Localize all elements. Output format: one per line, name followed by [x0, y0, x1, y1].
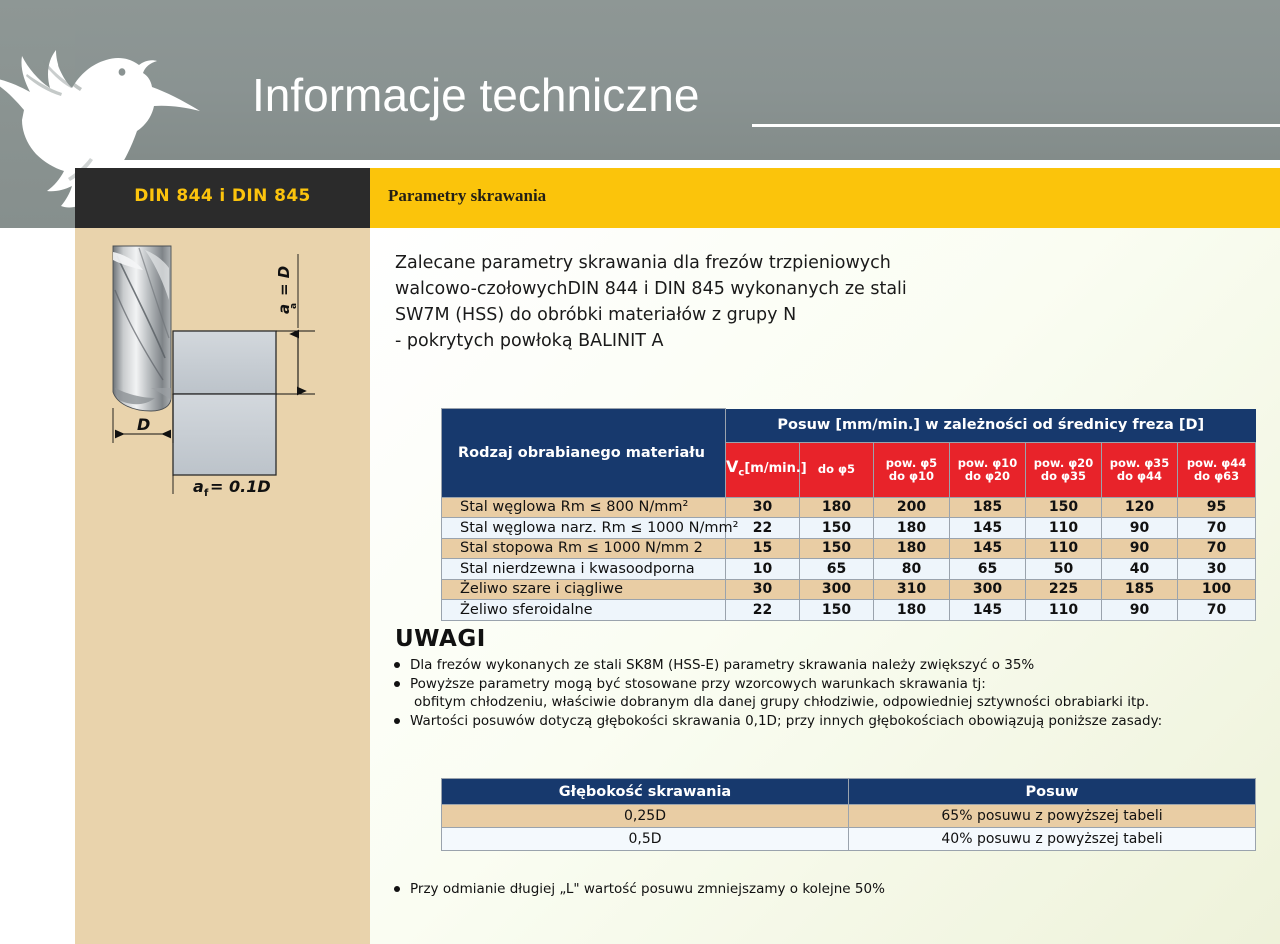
- end-mill-diagram: a a = D D a f = 0.1D: [93, 238, 353, 500]
- cell-value: 150: [800, 538, 874, 559]
- header-col-phi5-phi10: pow. φ5 do φ10: [874, 442, 950, 497]
- cell-value: 100: [1178, 579, 1256, 600]
- cell-value: 300: [800, 579, 874, 600]
- cell-value: 300: [950, 579, 1026, 600]
- cell-value: 65: [950, 559, 1026, 580]
- diagram-label-radial: a: [193, 477, 204, 496]
- table-row: Stal węglowa narz. Rm ≤ 1000 N/mm² 22 15…: [442, 518, 1256, 539]
- cell-material: Stal stopowa Rm ≤ 1000 N/mm 2: [442, 538, 726, 559]
- left-illustration-panel: a a = D D a f = 0.1D: [75, 228, 370, 944]
- depth-header: Głębokość skrawania: [442, 779, 849, 805]
- note-subtext: obfitym chłodzeniu, właściwie dobranym d…: [410, 693, 1272, 711]
- table-row: Stal węglowa Rm ≤ 800 N/mm² 30 180 200 1…: [442, 497, 1256, 518]
- header-col-phi20-phi35: pow. φ20 do φ35: [1026, 442, 1102, 497]
- intro-line-4: - pokrytych powłoką BALINIT A: [395, 328, 1015, 354]
- cell-value: 150: [1026, 497, 1102, 518]
- intro-paragraph: Zalecane parametry skrawania dla frezów …: [395, 250, 1015, 354]
- header-col-phi20-phi35-l2: do φ35: [1041, 469, 1086, 483]
- note-item: Dla frezów wykonanych ze stali SK8M (HSS…: [382, 656, 1272, 674]
- notes-final: Przy odmianie długiej „L" wartość posuwu…: [382, 880, 1272, 899]
- notes-heading: UWAGI: [395, 626, 486, 652]
- header-col-phi35-phi44-l1: pow. φ35: [1110, 456, 1169, 470]
- cell-value: 95: [1178, 497, 1256, 518]
- cutting-parameters-table-wrapper: Rodzaj obrabianego materiału Posuw [mm/m…: [441, 408, 1255, 621]
- header-col-phi10-phi20-l1: pow. φ10: [958, 456, 1017, 470]
- cell-value: 15: [726, 538, 800, 559]
- cell-value: 70: [1178, 538, 1256, 559]
- cell-value: 80: [874, 559, 950, 580]
- note-item: Przy odmianie długiej „L" wartość posuwu…: [382, 880, 1272, 898]
- cell-value: 150: [800, 518, 874, 539]
- header-material-cell: Rodzaj obrabianego materiału: [442, 409, 726, 498]
- cell-value: 10: [726, 559, 800, 580]
- cell-value: 145: [950, 600, 1026, 621]
- cell-value: 90: [1102, 538, 1178, 559]
- depth-feed-table: Głębokość skrawania Posuw 0,25D 65% posu…: [441, 778, 1256, 851]
- note-item: Wartości posuwów dotyczą głębokości skra…: [382, 712, 1272, 730]
- cutting-parameters-table: Rodzaj obrabianego materiału Posuw [mm/m…: [441, 408, 1256, 621]
- header-material-label: Rodzaj obrabianego materiału: [442, 445, 725, 461]
- cell-material: Żeliwo szare i ciągliwe: [442, 579, 726, 600]
- cutting-parameters-table-body: Stal węglowa Rm ≤ 800 N/mm² 30 180 200 1…: [442, 497, 1256, 620]
- table-row: Żeliwo szare i ciągliwe 30 300 310 300 2…: [442, 579, 1256, 600]
- header-col-phi44-phi63-l1: pow. φ44: [1187, 456, 1246, 470]
- header-col-phi35-phi44-l2: do φ44: [1117, 469, 1162, 483]
- tab-standard-label: DIN 844 i DIN 845: [75, 186, 370, 206]
- cell-value: 180: [874, 538, 950, 559]
- main-content: Zalecane parametry skrawania dla frezów …: [370, 228, 1280, 944]
- depth-feed-header-row: Głębokość skrawania Posuw: [442, 779, 1256, 805]
- header-col-do-phi5: do φ5: [800, 442, 874, 497]
- cell-value: 110: [1026, 600, 1102, 621]
- cell-value: 65: [800, 559, 874, 580]
- cell-value: 110: [1026, 518, 1102, 539]
- cell-value: 180: [874, 518, 950, 539]
- page-title: Informacje techniczne: [252, 72, 699, 118]
- header-col-phi44-phi63-l2: do φ63: [1194, 469, 1239, 483]
- cell-material: Stal nierdzewna i kwasoodporna: [442, 559, 726, 580]
- cell-value: 310: [874, 579, 950, 600]
- header-col-phi10-phi20: pow. φ10 do φ20: [950, 442, 1026, 497]
- cell-value: 22: [726, 600, 800, 621]
- cell-value: 200: [874, 497, 950, 518]
- cell-value: 185: [950, 497, 1026, 518]
- cell-value: 90: [1102, 600, 1178, 621]
- tab-standard[interactable]: DIN 844 i DIN 845: [75, 168, 370, 228]
- cell-material: Stal węglowa Rm ≤ 800 N/mm²: [442, 497, 726, 518]
- cell-material: Stal węglowa narz. Rm ≤ 1000 N/mm²: [442, 518, 726, 539]
- cell-depth: 0,25D: [442, 805, 849, 828]
- bullet-icon: [394, 662, 400, 668]
- cell-value: 70: [1178, 600, 1256, 621]
- bullet-icon: [394, 681, 400, 687]
- bullet-icon: [394, 886, 400, 892]
- svg-text:= 0.1D: = 0.1D: [210, 477, 271, 496]
- notes-list: Dla frezów wykonanych ze stali SK8M (HSS…: [382, 656, 1272, 731]
- cell-value: 180: [874, 600, 950, 621]
- tab-section[interactable]: Parametry skrawania: [370, 168, 1280, 228]
- table-row: 0,25D 65% posuwu z powyższej tabeli: [442, 805, 1256, 828]
- table-row: Żeliwo sferoidalne 22 150 180 145 110 90…: [442, 600, 1256, 621]
- cell-depth: 0,5D: [442, 828, 849, 851]
- header-col-phi44-phi63: pow. φ44 do φ63: [1178, 442, 1256, 497]
- header-col-phi10-phi20-l2: do φ20: [965, 469, 1010, 483]
- cell-value: 70: [1178, 518, 1256, 539]
- cell-value: 225: [1026, 579, 1102, 600]
- intro-line-3: SW7M (HSS) do obróbki materiałów z grupy…: [395, 302, 1015, 328]
- table-row: 0,5D 40% posuwu z powyższej tabeli: [442, 828, 1256, 851]
- cell-feed: 65% posuwu z powyższej tabeli: [849, 805, 1256, 828]
- cell-value: 120: [1102, 497, 1178, 518]
- page-root: Informacje techniczne DIN 844 i DIN 845 …: [0, 0, 1280, 944]
- diagram-label-diameter: D: [137, 415, 150, 434]
- note-text: Wartości posuwów dotyczą głębokości skra…: [410, 713, 1162, 729]
- cell-feed: 40% posuwu z powyższej tabeli: [849, 828, 1256, 851]
- cell-value: 110: [1026, 538, 1102, 559]
- cell-value: 40: [1102, 559, 1178, 580]
- header-col-phi5-phi10-l2: do φ10: [889, 469, 934, 483]
- table-row: Stal nierdzewna i kwasoodporna 10 65 80 …: [442, 559, 1256, 580]
- section-tab-bar: DIN 844 i DIN 845 Parametry skrawania: [0, 168, 1280, 228]
- cell-value: 50: [1026, 559, 1102, 580]
- note-text: Przy odmianie długiej „L" wartość posuwu…: [410, 881, 885, 897]
- svg-text:a: a: [289, 303, 299, 309]
- cell-value: 30: [1178, 559, 1256, 580]
- cell-value: 185: [1102, 579, 1178, 600]
- cell-value: 145: [950, 518, 1026, 539]
- cell-value: 180: [800, 497, 874, 518]
- cell-value: 30: [726, 497, 800, 518]
- note-item: Powyższe parametry mogą być stosowane pr…: [382, 675, 1272, 711]
- tab-section-label: Parametry skrawania: [388, 186, 546, 206]
- header-col-do-phi5-l1: do φ5: [818, 462, 855, 476]
- cell-material: Żeliwo sferoidalne: [442, 600, 726, 621]
- cell-value: 90: [1102, 518, 1178, 539]
- intro-line-2: walcowo-czołowychDIN 844 i DIN 845 wykon…: [395, 276, 1015, 302]
- svg-text:= D: = D: [275, 266, 293, 296]
- header-col-phi5-phi10-l1: pow. φ5: [886, 456, 937, 470]
- table-row: Stal stopowa Rm ≤ 1000 N/mm 2 15 150 180…: [442, 538, 1256, 559]
- cell-value: 145: [950, 538, 1026, 559]
- cell-value: 30: [726, 579, 800, 600]
- svg-text:f: f: [204, 488, 209, 499]
- cell-value: 150: [800, 600, 874, 621]
- note-text: Powyższe parametry mogą być stosowane pr…: [410, 676, 986, 692]
- table-header-row-span: Rodzaj obrabianego materiału Posuw [mm/m…: [442, 409, 1256, 443]
- feed-header: Posuw: [849, 779, 1256, 805]
- header-col-phi35-phi44: pow. φ35 do φ44: [1102, 442, 1178, 497]
- bullet-icon: [394, 718, 400, 724]
- header-col-vc: Vc[m/min.]: [726, 442, 800, 497]
- header-feed-span: Posuw [mm/min.] w zależności od średnicy…: [726, 409, 1256, 443]
- note-text: Dla frezów wykonanych ze stali SK8M (HSS…: [410, 657, 1034, 673]
- depth-feed-table-wrapper: Głębokość skrawania Posuw 0,25D 65% posu…: [441, 778, 1255, 851]
- header-col-phi20-phi35-l1: pow. φ20: [1034, 456, 1093, 470]
- intro-line-1: Zalecane parametry skrawania dla frezów …: [395, 250, 1015, 276]
- title-underline-rule: [752, 124, 1280, 127]
